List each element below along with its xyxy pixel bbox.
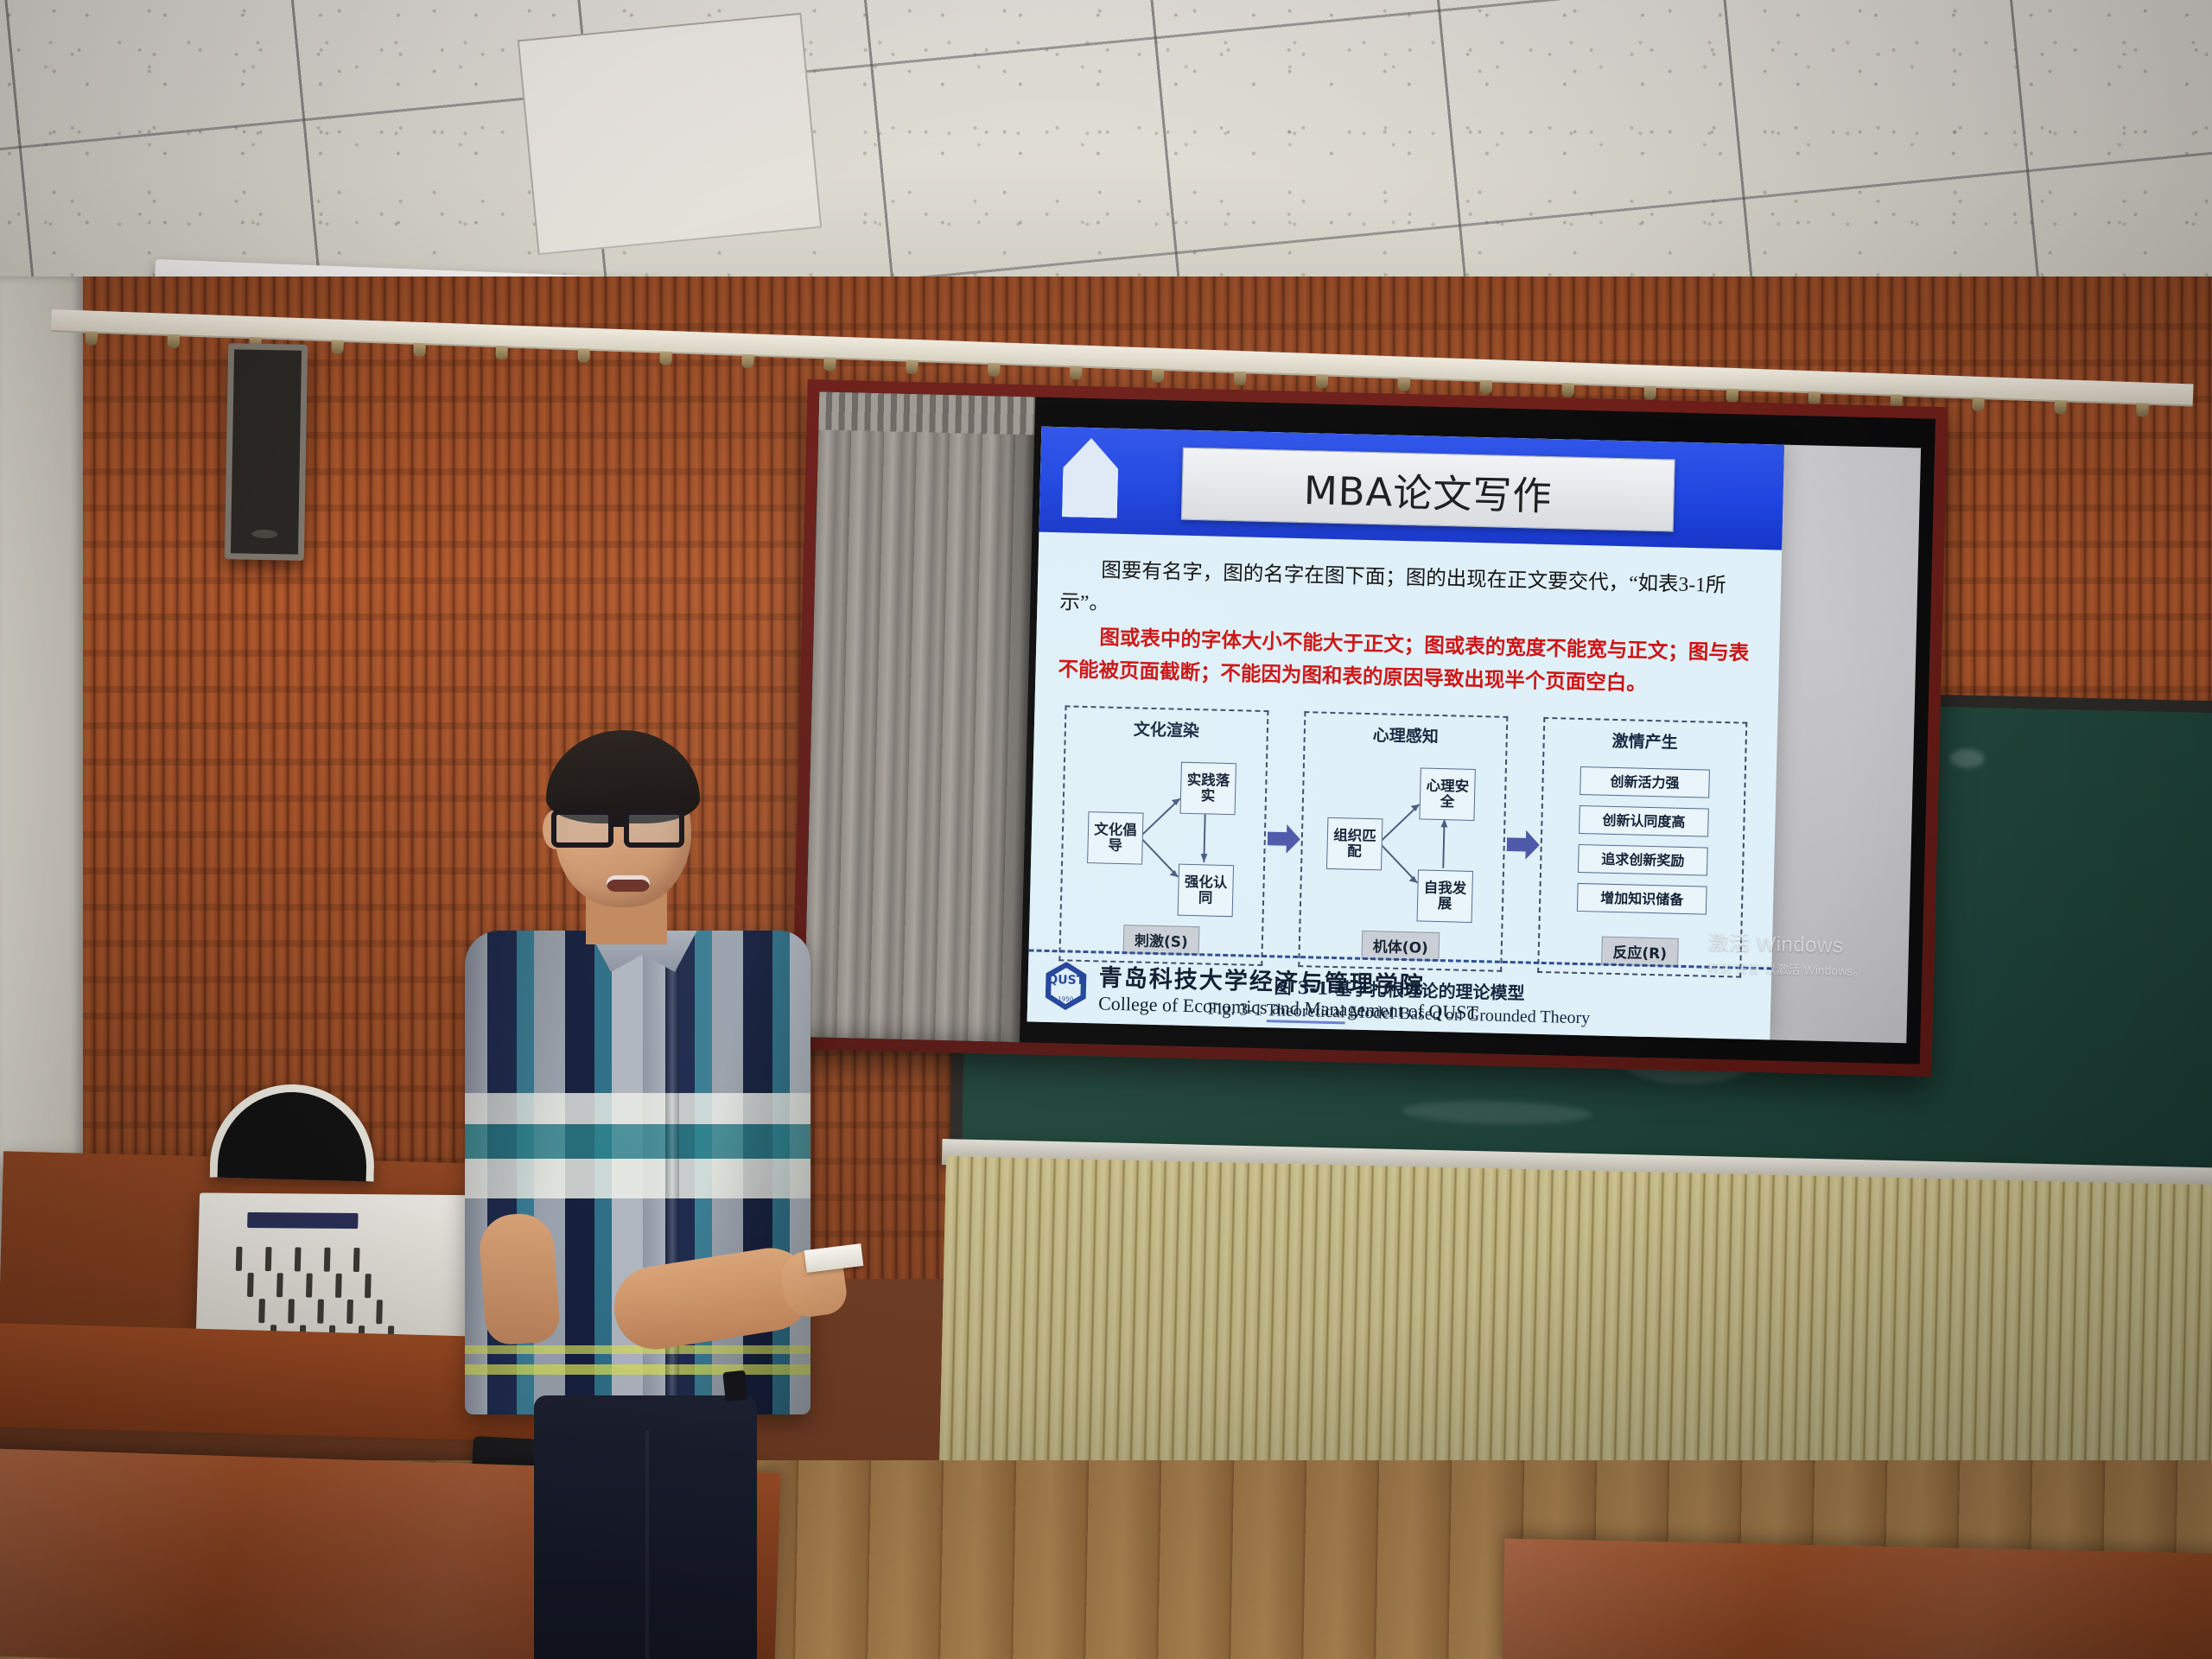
response-item: 创新活力强 <box>1580 766 1710 798</box>
vent-slot <box>247 1273 254 1297</box>
vent-slot <box>353 1248 360 1272</box>
panel-tag: 刺激(S) <box>1123 925 1200 955</box>
glasses-bridge <box>612 822 627 827</box>
curtain-hook <box>659 352 672 365</box>
curtain-hook <box>1316 374 1329 388</box>
curtain-hook <box>168 334 181 348</box>
curtain-hook <box>1234 372 1247 385</box>
diagram-panel-organism: 心理感知 组织匹配 心理安全 自我发展 <box>1298 711 1508 972</box>
vent-slot <box>365 1274 372 1298</box>
projection-screen-inner: 激活 Windows 转到"设置"以激活 Windows。 MBA论文写作 图要… <box>804 391 1935 1064</box>
vent-slot <box>265 1247 272 1271</box>
curtain-hook <box>988 363 1001 377</box>
node-bottom: 强化认同 <box>1178 864 1234 918</box>
vent-slot <box>306 1274 313 1298</box>
curtain-hook <box>823 357 836 371</box>
curtain-pleat-header <box>818 391 1035 435</box>
curtain-hook <box>1726 389 1738 403</box>
vent-slot <box>317 1300 324 1324</box>
vent-slot <box>295 1247 302 1271</box>
curtain-hook <box>2136 403 2149 416</box>
belt-clip <box>722 1370 747 1402</box>
vent-slot <box>376 1300 383 1324</box>
panel-title: 心理感知 <box>1372 722 1439 747</box>
curtain-hook <box>2054 400 2067 414</box>
vent-slot <box>324 1248 331 1272</box>
logo-year-text: 1950 <box>1058 995 1073 1002</box>
grounded-theory-diagram: 文化渲染 文化倡导 实践落实 强化认同 <box>1058 706 1747 978</box>
classroom-scene: 激活 Windows 转到"设置"以激活 Windows。 MBA论文写作 图要… <box>0 0 2212 1659</box>
presenter-mouth <box>607 875 650 892</box>
vent-slot <box>258 1299 265 1323</box>
response-item: 增加知识储备 <box>1577 883 1707 915</box>
desk-gloss-reflection <box>1503 1539 2212 1659</box>
speaker-cone-icon <box>251 530 277 539</box>
wall-speaker <box>225 343 308 561</box>
response-item: 追求创新奖励 <box>1578 844 1708 876</box>
presenter <box>449 730 821 1659</box>
node-bottom: 自我发展 <box>1417 870 1473 924</box>
curtain-hook <box>1972 397 1985 411</box>
vent-slot <box>236 1247 243 1271</box>
presenter-left-arm <box>478 1211 561 1346</box>
curtain-hook <box>741 354 754 368</box>
chalk-mark <box>1949 748 1984 768</box>
curtain-hook <box>1152 368 1165 382</box>
vent-slot <box>346 1300 353 1324</box>
acoustic-ceiling <box>0 0 2212 294</box>
panel-title: 文化渲染 <box>1134 717 1200 742</box>
curtain-hook <box>1562 383 1575 397</box>
node-top: 心理安全 <box>1419 768 1475 822</box>
lens-right <box>624 810 684 848</box>
curtain-hook <box>495 346 508 359</box>
projection-screen-frame: 激活 Windows 转到"设置"以激活 Windows。 MBA论文写作 图要… <box>791 379 1948 1077</box>
right-arrow-icon <box>1506 829 1540 860</box>
response-item: 创新认同度高 <box>1579 805 1709 837</box>
vent-slot <box>276 1273 283 1297</box>
panel-title: 激情产生 <box>1611 728 1678 753</box>
panel-tag: 机体(O) <box>1361 931 1440 961</box>
curtain-hook <box>577 348 590 362</box>
slide-title-box: MBA论文写作 <box>1181 448 1675 532</box>
watermark-line-1: 激活 Windows <box>1707 925 1866 959</box>
presenter-trousers <box>534 1395 757 1659</box>
arrow-gap-2 <box>1502 716 1543 973</box>
window-curtain <box>804 391 1035 1042</box>
chalk-mark <box>1402 1099 1592 1126</box>
vent-slot <box>335 1274 342 1298</box>
logo-mark-text: QUST <box>1047 973 1084 988</box>
windows-activation-watermark: 激活 Windows 转到"设置"以激活 Windows。 <box>1707 925 1866 980</box>
curtain-hook <box>1643 385 1656 399</box>
node-root: 文化倡导 <box>1087 811 1143 865</box>
pentagon-logo-icon <box>1062 437 1119 518</box>
node-top: 实践落实 <box>1180 762 1236 816</box>
curtain-hook <box>1398 377 1411 391</box>
lens-left <box>551 810 613 848</box>
curtain-hook <box>413 343 426 357</box>
panel-tag: 反应(R) <box>1601 937 1678 967</box>
node-root: 组织匹配 <box>1326 817 1382 871</box>
slide-title: MBA论文写作 <box>1303 459 1553 521</box>
qust-logo-icon: QUST 1950 <box>1043 961 1089 1010</box>
ceiling-speckle-texture <box>0 0 2212 294</box>
foreground-desk-right <box>1503 1539 2212 1659</box>
vent-slot <box>288 1299 295 1323</box>
arrow-gap-1 <box>1262 710 1304 967</box>
curtain-hook <box>86 331 99 345</box>
powerpoint-slide[interactable]: MBA论文写作 图要有名字，图的名字在图下面；图的出现在正文要交代，“如表3-1… <box>1027 427 1785 1040</box>
footer-org-block: 青岛科技大学经济与管理学院 College of Economics and M… <box>1098 958 1479 1024</box>
slide-header-band: MBA论文写作 <box>1039 427 1784 550</box>
curtain-hook <box>906 360 918 374</box>
ceiling-light-panel <box>518 13 822 255</box>
cabinet-brand-label <box>247 1212 358 1229</box>
right-arrow-icon <box>1267 823 1300 854</box>
curtain-hook <box>1070 365 1083 379</box>
curtain-hook <box>1480 380 1493 394</box>
diagram-panel-stimulus: 文化渲染 文化倡导 实践落实 强化认同 <box>1058 706 1268 967</box>
curtain-hook <box>331 340 344 353</box>
eyeglasses-icon <box>551 810 703 849</box>
